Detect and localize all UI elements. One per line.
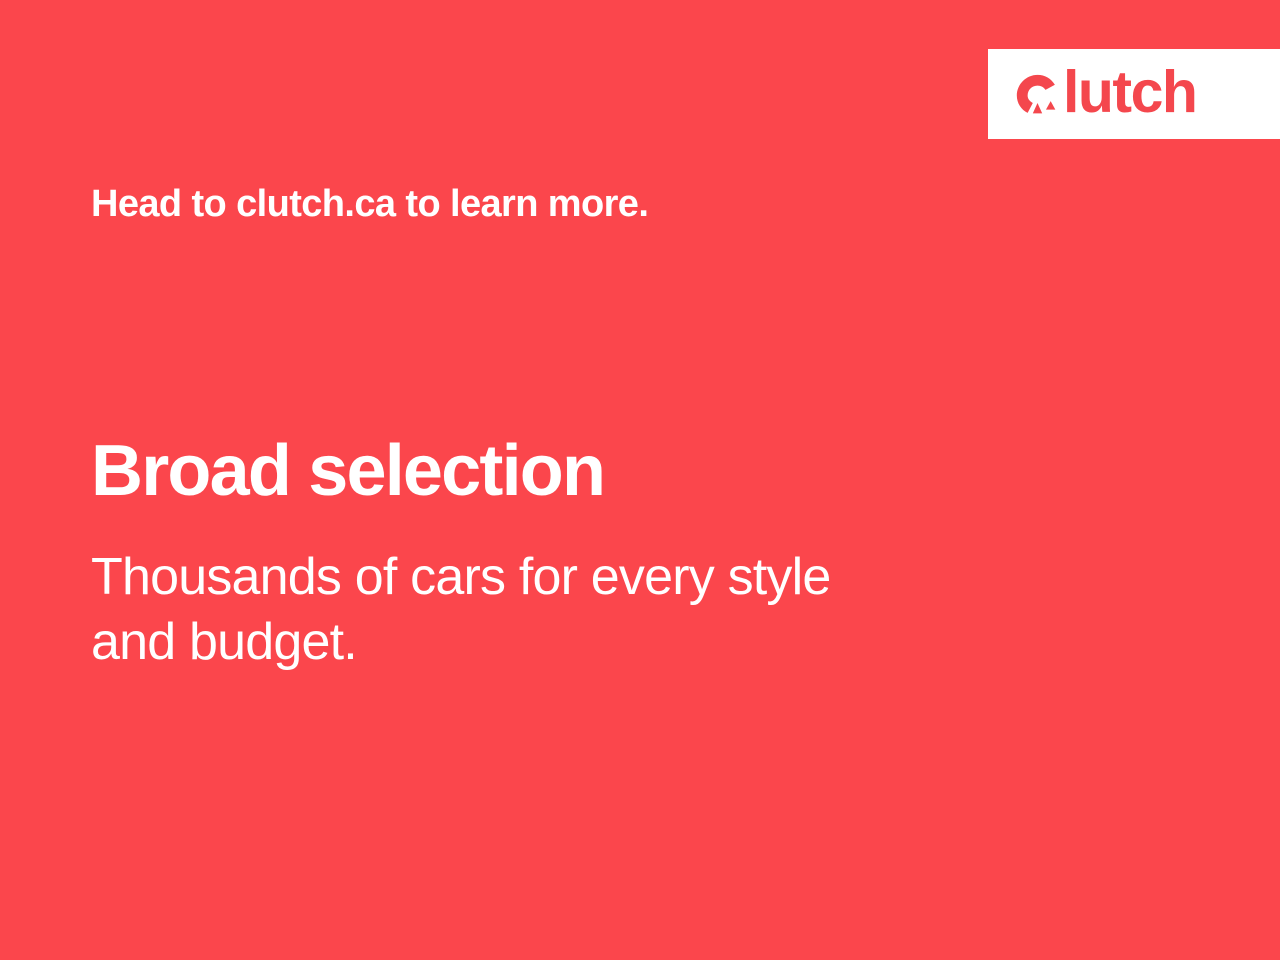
subheadline-line: and budget.: [91, 610, 1051, 675]
brand-wordmark: lutch: [1063, 63, 1196, 122]
kicker-text: Head to clutch.ca to learn more.: [91, 183, 648, 227]
subheadline: Thousands of cars for every style and bu…: [91, 545, 1051, 675]
clutch-c-mark-icon: [1014, 72, 1061, 119]
page-title: Broad selection: [91, 434, 604, 510]
subheadline-line: Thousands of cars for every style: [91, 545, 1051, 610]
brand-logo-panel: lutch: [988, 49, 1280, 139]
promo-slide: lutch Head to clutch.ca to learn more. B…: [0, 0, 1280, 960]
